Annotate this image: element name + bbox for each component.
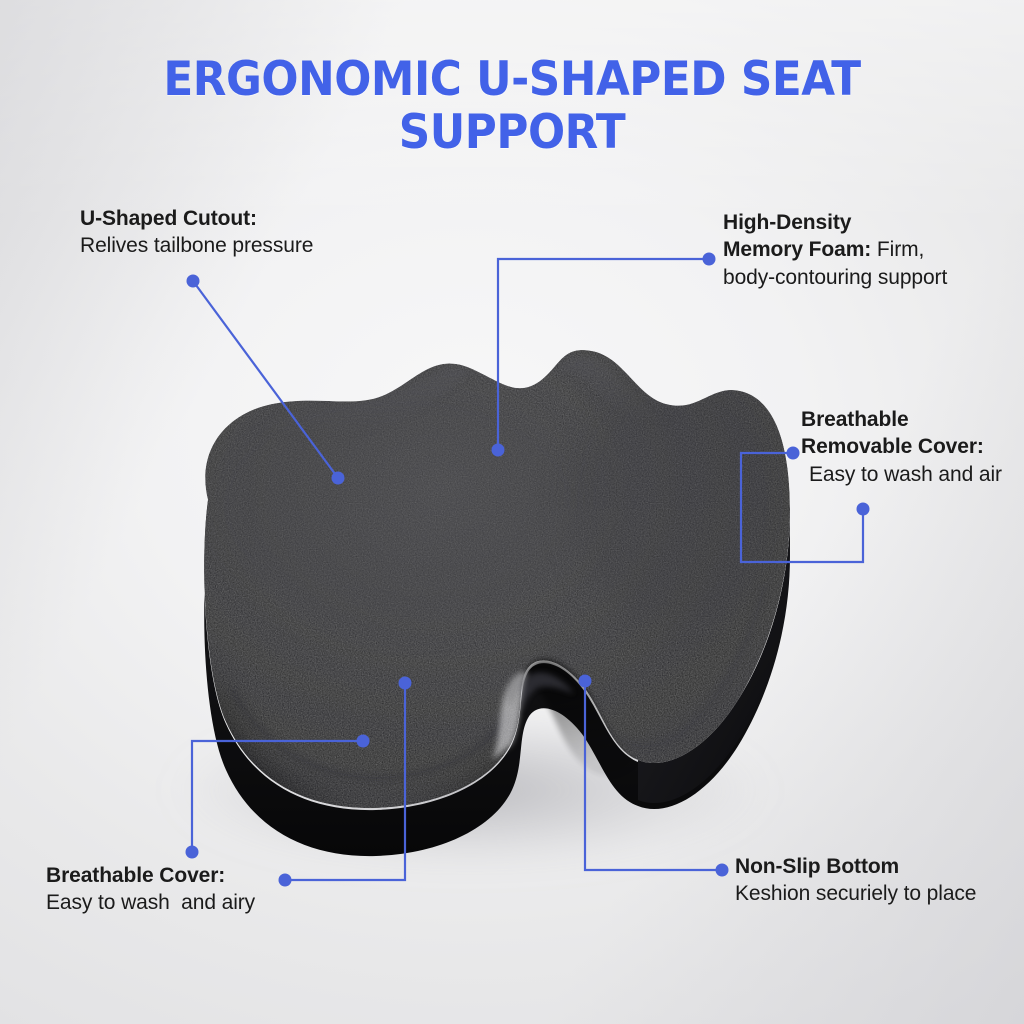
leader-dot-breathable-cover-label	[279, 874, 292, 887]
callout-breathable-removable-cover: Breathable Removable Cover: Easy to wash…	[801, 406, 1002, 488]
infographic-canvas: ERGONOMIC U-SHAPED SEAT SUPPORT	[0, 0, 1024, 1024]
leader-dot-removable-cover-label	[787, 447, 800, 460]
leader-line-breathable-cover-upper	[192, 741, 363, 852]
callout-high-density-memory-foam: High-Density Memory Foam: Firm, body-con…	[723, 209, 947, 291]
callout-description: Easy to wash and airy	[46, 889, 255, 916]
leader-dots	[186, 253, 870, 887]
leader-dot-breathable-cover-mid	[186, 846, 199, 859]
leader-dot-breathable-cover-top	[399, 677, 412, 690]
callout-title-line-2: Memory Foam: Firm,	[723, 236, 947, 263]
callout-breathable-cover: Breathable Cover: Easy to wash and airy	[46, 862, 255, 917]
callout-description: Easy to wash and air	[801, 461, 1002, 488]
callout-description: Relives tailbone pressure	[80, 232, 313, 259]
leader-dot-breathable-cover-target	[357, 735, 370, 748]
callout-u-shaped-cutout: U-Shaped Cutout: Relives tailbone pressu…	[80, 205, 313, 260]
leader-dot-memory-foam-target	[492, 444, 505, 457]
callout-title: Non-Slip Bottom	[735, 853, 976, 880]
leader-dot-non-slip-label	[716, 864, 729, 877]
callout-title-line-1: Breathable	[801, 406, 1002, 433]
callout-title-line-2: Removable Cover:	[801, 433, 1002, 460]
leader-dot-cutout-label	[187, 275, 200, 288]
leader-line-memory-foam	[498, 259, 709, 450]
leader-line-non-slip	[585, 681, 722, 870]
leader-line-cutout	[193, 281, 338, 478]
callout-non-slip-bottom: Non-Slip Bottom Keshion securiely to pla…	[735, 853, 976, 908]
callout-title-line-1: High-Density	[723, 209, 947, 236]
leader-dot-removable-cover-target	[857, 503, 870, 516]
callout-description: Keshion securiely to place	[735, 880, 976, 907]
callout-title: Breathable Cover:	[46, 862, 255, 889]
callout-description-line-2: body-contouring support	[723, 264, 947, 291]
leader-dot-non-slip-target	[579, 675, 592, 688]
leader-dot-memory-foam-label	[703, 253, 716, 266]
leader-line-breathable-cover-lower	[285, 683, 405, 880]
callout-title: U-Shaped Cutout:	[80, 205, 313, 232]
leader-dot-cutout-target	[332, 472, 345, 485]
